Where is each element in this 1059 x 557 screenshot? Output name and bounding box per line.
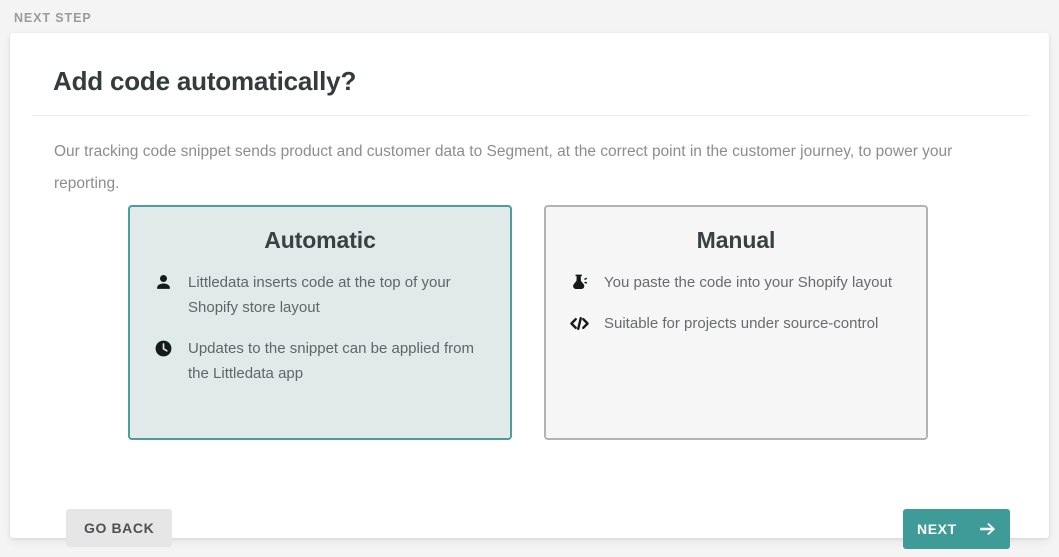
go-back-button[interactable]: GO BACK — [66, 509, 172, 547]
intro-paragraph: Our tracking code snippet sends product … — [54, 136, 984, 200]
clock-icon — [152, 336, 174, 360]
arrow-right-icon — [979, 522, 996, 536]
feature-text: Littledata inserts code at the top of yo… — [188, 270, 488, 320]
feature-item: You paste the code into your Shopify lay… — [568, 270, 904, 295]
option-card-manual[interactable]: Manual You paste the code into your Shop… — [544, 205, 928, 440]
onboarding-screen: NEXT STEP Add code automatically? Our tr… — [0, 0, 1059, 557]
content-panel: Add code automatically? Our tracking cod… — [10, 33, 1049, 538]
feature-text: You paste the code into your Shopify lay… — [604, 270, 892, 295]
next-button[interactable]: NEXT — [903, 509, 1010, 549]
page-title: Add code automatically? — [53, 66, 356, 97]
card-title-manual: Manual — [568, 227, 904, 254]
step-label: NEXT STEP — [14, 11, 92, 25]
feature-item: Suitable for projects under source-contr… — [568, 311, 904, 336]
next-button-label: NEXT — [917, 521, 957, 537]
feature-text: Suitable for projects under source-contr… — [604, 311, 878, 336]
feature-text: Updates to the snippet can be applied fr… — [188, 336, 488, 386]
option-card-automatic[interactable]: Automatic Littledata inserts code at the… — [128, 205, 512, 440]
user-icon — [152, 270, 174, 294]
code-icon — [568, 311, 590, 335]
feature-item: Updates to the snippet can be applied fr… — [152, 336, 488, 386]
flask-icon — [568, 270, 590, 294]
option-cards: Automatic Littledata inserts code at the… — [128, 205, 928, 440]
feature-item: Littledata inserts code at the top of yo… — [152, 270, 488, 320]
footer-actions: GO BACK NEXT — [10, 476, 1049, 538]
card-title-automatic: Automatic — [152, 227, 488, 254]
header-divider — [32, 115, 1028, 116]
